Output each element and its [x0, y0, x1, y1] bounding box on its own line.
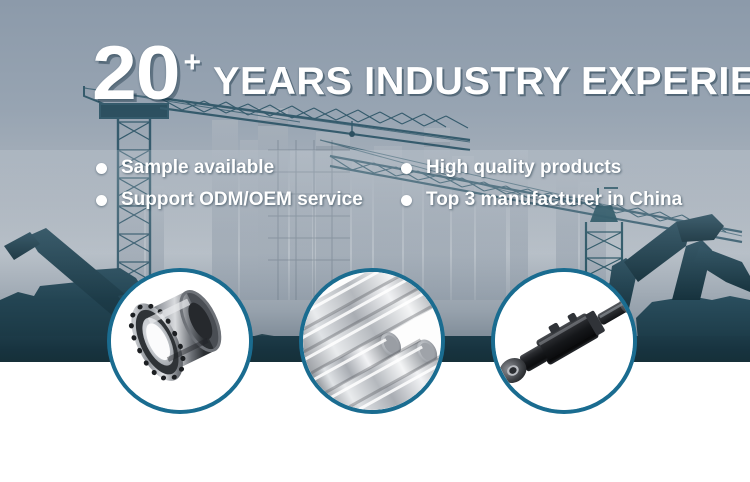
product-circle-gallery	[0, 268, 750, 428]
bullet-dot-icon	[96, 163, 107, 174]
product-circle-hydraulic-cylinder[interactable]	[491, 268, 637, 414]
feature-item: Sample available	[96, 158, 401, 179]
feature-column-left: Sample available Support ODM/OEM service	[96, 158, 401, 211]
product-circle-steel-round-bars[interactable]	[299, 268, 445, 414]
feature-item: Support ODM/OEM service	[96, 190, 401, 211]
headline-text: YEARS INDUSTRY EXPERIENCE	[213, 62, 750, 103]
feature-item: High quality products	[401, 158, 682, 179]
promo-banner: 20 + YEARS INDUSTRY EXPERIENCE Sample av…	[0, 0, 750, 482]
feature-label: Support ODM/OEM service	[121, 190, 363, 211]
feature-column-right: High quality products Top 3 manufacturer…	[401, 158, 682, 211]
feature-item: Top 3 manufacturer in China	[401, 190, 682, 211]
steel-flange-pipe	[111, 272, 249, 410]
headline-superscript: +	[184, 48, 202, 78]
hydraulic-cylinder	[495, 272, 633, 410]
bullet-dot-icon	[401, 163, 412, 174]
bullet-dot-icon	[401, 195, 412, 206]
feature-label: Sample available	[121, 158, 274, 179]
feature-label: High quality products	[426, 158, 621, 179]
headline-number: 20	[92, 44, 179, 103]
feature-list: Sample available Support ODM/OEM service…	[96, 158, 716, 211]
steel-round-bars	[303, 272, 441, 410]
headline: 20 + YEARS INDUSTRY EXPERIENCE	[92, 44, 750, 103]
bullet-dot-icon	[96, 195, 107, 206]
feature-label: Top 3 manufacturer in China	[426, 190, 682, 211]
product-circle-steel-flange-pipe[interactable]	[107, 268, 253, 414]
